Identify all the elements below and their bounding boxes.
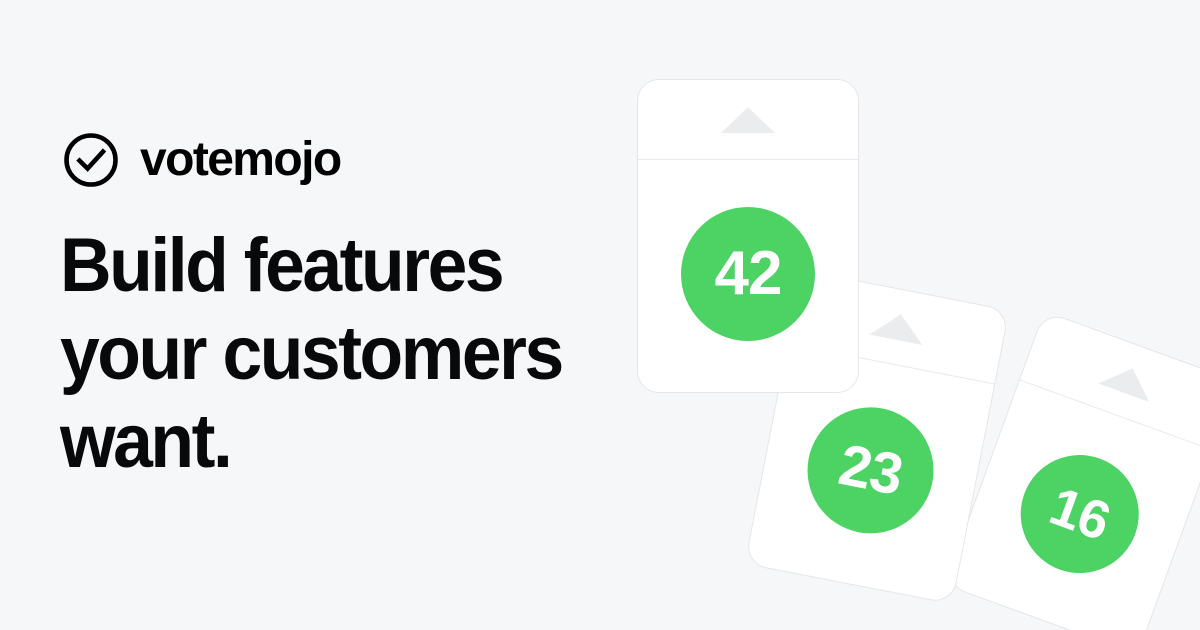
promo-banner: votemojo Build features your customers w… <box>0 0 1200 630</box>
vote-card-body: 42 <box>638 160 858 393</box>
triangle-up-icon[interactable] <box>1098 359 1158 402</box>
triangle-up-icon[interactable] <box>869 309 927 345</box>
vote-card-header <box>638 80 858 160</box>
headline-line-2: your customers <box>60 310 624 398</box>
vote-card[interactable]: 42 <box>637 79 859 393</box>
headline-line-1: Build features <box>60 222 624 310</box>
check-circle-icon <box>62 131 120 189</box>
page-title: Build features your customers want. <box>60 222 624 486</box>
vote-count-badge: 42 <box>681 207 815 341</box>
triangle-up-icon[interactable] <box>721 107 775 133</box>
brand-lockup: votemojo <box>62 131 341 189</box>
vote-count-badge: 16 <box>1004 438 1155 589</box>
brand-name: votemojo <box>140 136 341 184</box>
headline-line-3: want. <box>60 398 624 486</box>
vote-count-badge: 23 <box>797 396 945 544</box>
